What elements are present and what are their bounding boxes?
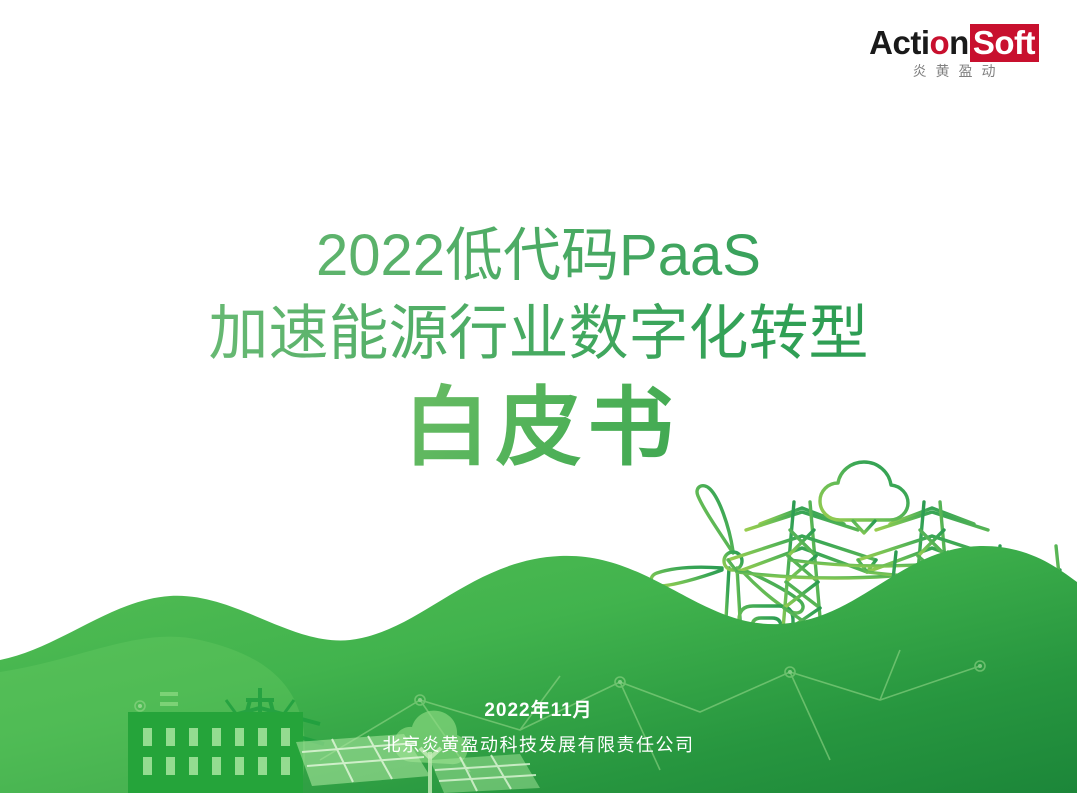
cover-footer: 2022年11月 北京炎黄盈动科技发展有限责任公司 — [0, 695, 1077, 757]
publisher-name: 北京炎黄盈动科技发展有限责任公司 — [0, 731, 1077, 757]
brand-acti: Acti — [869, 24, 929, 61]
brand-action-text: Action — [869, 24, 969, 61]
publication-date: 2022年11月 — [0, 695, 1077, 722]
brand-soft-text: Soft — [970, 24, 1039, 62]
title-line-2: 加速能源行业数字化转型 — [0, 294, 1077, 374]
brand-wordmark: ActionSoft — [869, 26, 1039, 59]
substation-building — [855, 598, 905, 652]
hill-back — [0, 576, 1077, 793]
whitepaper-cover: ActionSoft 炎黄盈动 2022低代码PaaS 加速能源行业数字化转型 … — [0, 0, 1077, 793]
cooling-tower-b — [882, 552, 962, 652]
transmission-tower-right — [858, 474, 1006, 652]
brand-logo: ActionSoft 炎黄盈动 — [869, 26, 1039, 79]
pipeline — [720, 606, 812, 652]
transmission-tower-left — [728, 474, 876, 652]
cover-title-group: 2022低代码PaaS 加速能源行业数字化转型 白皮书 — [0, 218, 1077, 476]
cooling-tower-a — [986, 546, 1070, 652]
brand-o-red: o — [929, 24, 949, 61]
brand-s: S — [973, 24, 995, 61]
brand-o-white: o — [994, 24, 1014, 61]
power-lines — [818, 632, 960, 645]
title-line-1: 2022低代码PaaS — [0, 218, 1077, 294]
brand-ft: ft — [1014, 24, 1035, 61]
brand-chinese-name: 炎黄盈动 — [869, 65, 1039, 79]
power-lines — [737, 560, 1060, 578]
solar-panel-small — [430, 754, 540, 793]
title-emphasis: 白皮书 — [0, 380, 1077, 476]
brand-n: n — [949, 24, 969, 61]
wind-turbine — [651, 486, 803, 652]
